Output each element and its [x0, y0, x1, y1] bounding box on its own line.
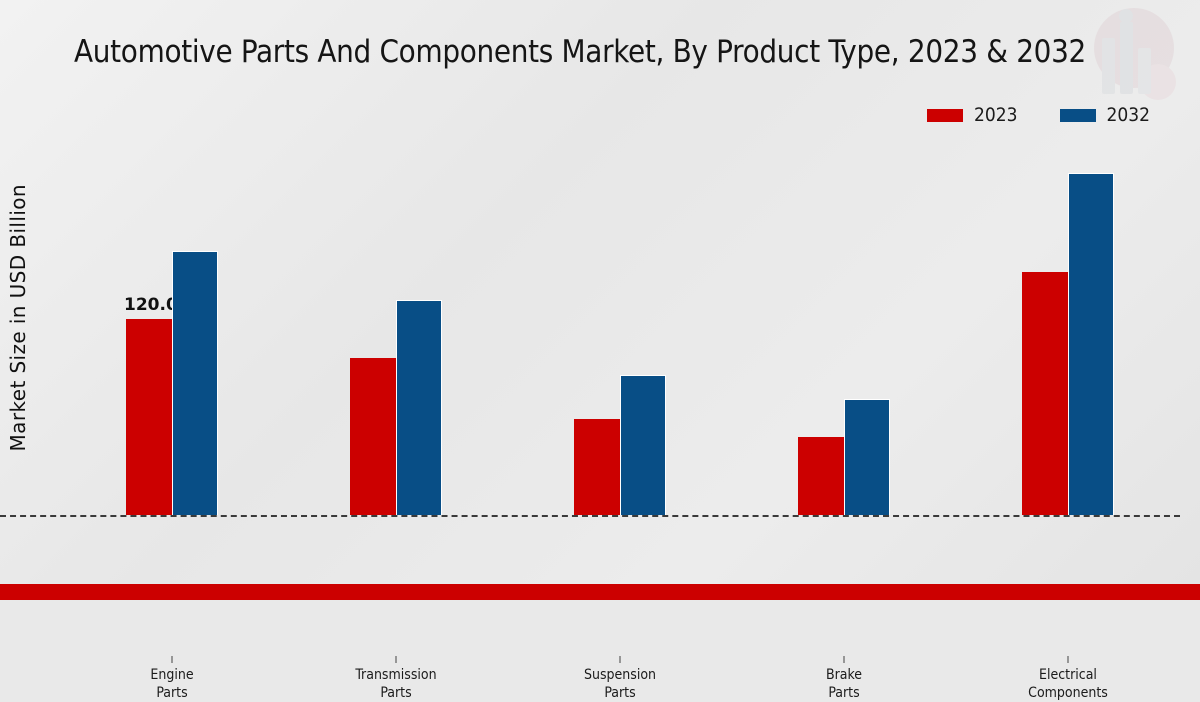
- bar-2023-brake-parts[interactable]: [798, 437, 844, 515]
- bar-pair: [350, 140, 442, 515]
- bar-2032-suspension-parts[interactable]: [620, 375, 666, 515]
- x-axis-tick: [844, 656, 845, 663]
- bar-2023-electrical-components[interactable]: [1022, 272, 1068, 515]
- bar-group: TransmissionParts: [284, 140, 508, 515]
- bar-group: BrakeParts: [732, 140, 956, 515]
- bar-2032-electrical-components[interactable]: [1068, 173, 1114, 515]
- bar-2023-transmission-parts[interactable]: [350, 358, 396, 515]
- y-axis-title-text: Market Size in USD Billion: [6, 184, 30, 451]
- bar-group: 120.0EngineParts: [60, 140, 284, 515]
- bar-pair: [574, 140, 666, 515]
- x-axis-label: TransmissionParts: [284, 666, 508, 702]
- bar-2023-engine-parts[interactable]: 120.0: [126, 319, 172, 515]
- legend-item-2023[interactable]: 2023: [927, 104, 1018, 126]
- footer-bar: [0, 584, 1200, 600]
- chart-canvas: Automotive Parts And Components Market, …: [0, 0, 1200, 600]
- x-axis-label: BrakeParts: [732, 666, 956, 702]
- chart-legend: 2023 2032: [0, 104, 1150, 126]
- x-axis-tick: [172, 656, 173, 663]
- x-axis-label: ElectricalComponents: [956, 666, 1180, 702]
- bar-pair: [798, 140, 890, 515]
- x-axis-baseline: [0, 515, 1180, 517]
- legend-swatch-2032-icon: [1060, 109, 1096, 122]
- legend-label-2023: 2023: [974, 104, 1018, 126]
- bar-2032-engine-parts[interactable]: [172, 251, 218, 515]
- bar-2032-brake-parts[interactable]: [844, 399, 890, 515]
- bar-2023-suspension-parts[interactable]: [574, 419, 620, 515]
- bar-groups: 120.0EnginePartsTransmissionPartsSuspens…: [60, 140, 1180, 515]
- legend-item-2032[interactable]: 2032: [1060, 104, 1151, 126]
- bar-value-label: 120.0: [124, 295, 178, 315]
- x-axis-tick: [620, 656, 621, 663]
- chart-title: Automotive Parts And Components Market, …: [0, 34, 1160, 70]
- bar-group: SuspensionParts: [508, 140, 732, 515]
- bar-2032-transmission-parts[interactable]: [396, 300, 442, 515]
- legend-label-2032: 2032: [1107, 104, 1151, 126]
- x-axis-label: SuspensionParts: [508, 666, 732, 702]
- legend-swatch-2023-icon: [927, 109, 963, 122]
- y-axis-title: Market Size in USD Billion: [0, 0, 20, 600]
- x-axis-tick: [396, 656, 397, 663]
- bar-pair: [1022, 140, 1114, 515]
- bar-pair: 120.0: [126, 140, 218, 515]
- x-axis-tick: [1068, 656, 1069, 663]
- bar-group: ElectricalComponents: [956, 140, 1180, 515]
- x-axis-label: EngineParts: [60, 666, 284, 702]
